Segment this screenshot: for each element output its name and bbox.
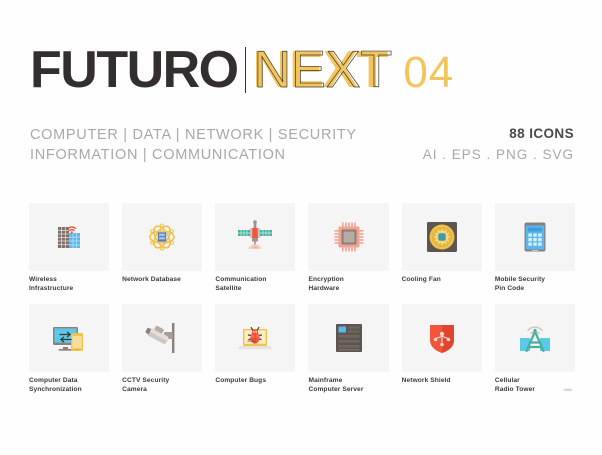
category-line-1: COMPUTER | DATA | NETWORK | SECURITY: [30, 125, 357, 145]
icon-label-line2: Infrastructure: [29, 285, 109, 294]
icon-code: 1032: [563, 388, 572, 392]
icon-card[interactable]: 1065 Network Shield: [402, 304, 482, 394]
icon-label-line2: Computer Server: [308, 386, 388, 395]
cooling-fan-icon: [422, 217, 462, 257]
icon-card[interactable]: 1034 Communication Satellite: [215, 203, 295, 293]
communication-satellite-icon: [235, 217, 275, 257]
icon-label: Encryption Hardware: [308, 276, 388, 293]
icon-label: Mainframe Computer Server: [308, 377, 388, 394]
icon-thumbnail[interactable]: [308, 203, 388, 271]
network-database-icon: [142, 217, 182, 257]
pack-meta: 88 ICONS AI . EPS . PNG . SVG: [423, 124, 574, 165]
icon-count-label: 88 ICONS: [423, 124, 574, 143]
wireless-infrastructure-icon: [49, 217, 89, 257]
cctv-security-camera-icon: [142, 318, 182, 358]
icon-card[interactable]: 1127 CCTV Security Camera: [122, 304, 202, 394]
icon-label-line1: Computer Bugs: [215, 377, 295, 386]
icon-label: CCTV Security Camera: [122, 377, 202, 394]
brand-secondary-text: NEXT: [253, 44, 388, 96]
icon-label: Computer Bugs: [215, 377, 295, 386]
icon-label: Network Database: [122, 276, 202, 285]
icon-label-line1: Cellular: [495, 377, 575, 386]
icon-thumbnail[interactable]: [308, 304, 388, 372]
volume-number: 04: [403, 50, 454, 96]
icon-label-line2: Hardware: [308, 285, 388, 294]
icon-label: Computer Data Synchronization: [29, 377, 109, 394]
mobile-security-pin-code-icon: [515, 217, 555, 257]
brand-primary-text: FUTURO: [30, 44, 238, 96]
cellular-radio-tower-icon: [515, 318, 555, 358]
icon-label-line2: Camera: [122, 386, 202, 395]
icon-label-line2: Satellite: [215, 285, 295, 294]
icon-label-line1: Cooling Fan: [402, 276, 482, 285]
encryption-hardware-icon: [329, 217, 369, 257]
icon-pack-preview: FUTURO NEXT NEXT 04 COMPUTER | DATA | NE…: [0, 0, 602, 455]
icon-grid: 1301 Wireless Infrastructure: [29, 203, 575, 394]
file-formats-label: AI . EPS . PNG . SVG: [423, 145, 574, 165]
icon-label-line2: Synchronization: [29, 386, 109, 395]
icon-thumbnail[interactable]: [122, 304, 202, 372]
icon-label-line1: Wireless: [29, 276, 109, 285]
icon-label-line1: CCTV Security: [122, 377, 202, 386]
category-list: COMPUTER | DATA | NETWORK | SECURITY INF…: [30, 125, 357, 165]
icon-card[interactable]: 1087 Cooling Fan: [402, 203, 482, 293]
icon-thumbnail[interactable]: [122, 203, 202, 271]
icon-label-line1: Computer Data: [29, 377, 109, 386]
icon-label-line1: Mobile Security: [495, 276, 575, 285]
icon-card[interactable]: 1301 Wireless Infrastructure: [29, 203, 109, 293]
icon-thumbnail[interactable]: [495, 203, 575, 271]
icon-label-line2: Pin Code: [495, 285, 575, 294]
icon-label-line1: Mainframe: [308, 377, 388, 386]
icon-card[interactable]: 1045 Mobile Security Pin Code: [495, 203, 575, 293]
computer-data-synchronization-icon: [49, 318, 89, 358]
category-line-2: INFORMATION | COMMUNICATION: [30, 145, 357, 165]
icon-card[interactable]: 1273 Network Database: [122, 203, 202, 293]
icon-label-line1: Encryption: [308, 276, 388, 285]
icon-card[interactable]: 1032 Cellular Radio Tower: [495, 304, 575, 394]
icon-thumbnail[interactable]: [402, 304, 482, 372]
icon-thumbnail[interactable]: [402, 203, 482, 271]
icon-thumbnail[interactable]: [215, 304, 295, 372]
icon-label: Mobile Security Pin Code: [495, 276, 575, 293]
icon-label-line1: Network Shield: [402, 377, 482, 386]
icon-label: Network Shield: [402, 377, 482, 386]
icon-card[interactable]: 1038 Computer Data Synchronization: [29, 304, 109, 394]
icon-label: Communication Satellite: [215, 276, 295, 293]
icon-label: Wireless Infrastructure: [29, 276, 109, 293]
icon-card[interactable]: 1053 Encryption Hardware: [308, 203, 388, 293]
icon-label-line1: Network Database: [122, 276, 202, 285]
title-divider: [245, 47, 246, 93]
icon-thumbnail[interactable]: [29, 203, 109, 271]
icon-label-line1: Communication: [215, 276, 295, 285]
icon-label: Cooling Fan: [402, 276, 482, 285]
icon-thumbnail[interactable]: [495, 304, 575, 372]
icon-thumbnail[interactable]: [29, 304, 109, 372]
brand-title: FUTURO NEXT NEXT 04: [30, 38, 454, 96]
icon-card[interactable]: 1093 Computer Bugs: [215, 304, 295, 394]
brand-secondary-wrap: NEXT NEXT: [253, 40, 388, 96]
mainframe-computer-server-icon: [329, 318, 369, 358]
icon-card[interactable]: 1036 Mainframe Computer Server: [308, 304, 388, 394]
network-shield-icon: [422, 318, 462, 358]
computer-bugs-icon: [235, 318, 275, 358]
icon-thumbnail[interactable]: [215, 203, 295, 271]
